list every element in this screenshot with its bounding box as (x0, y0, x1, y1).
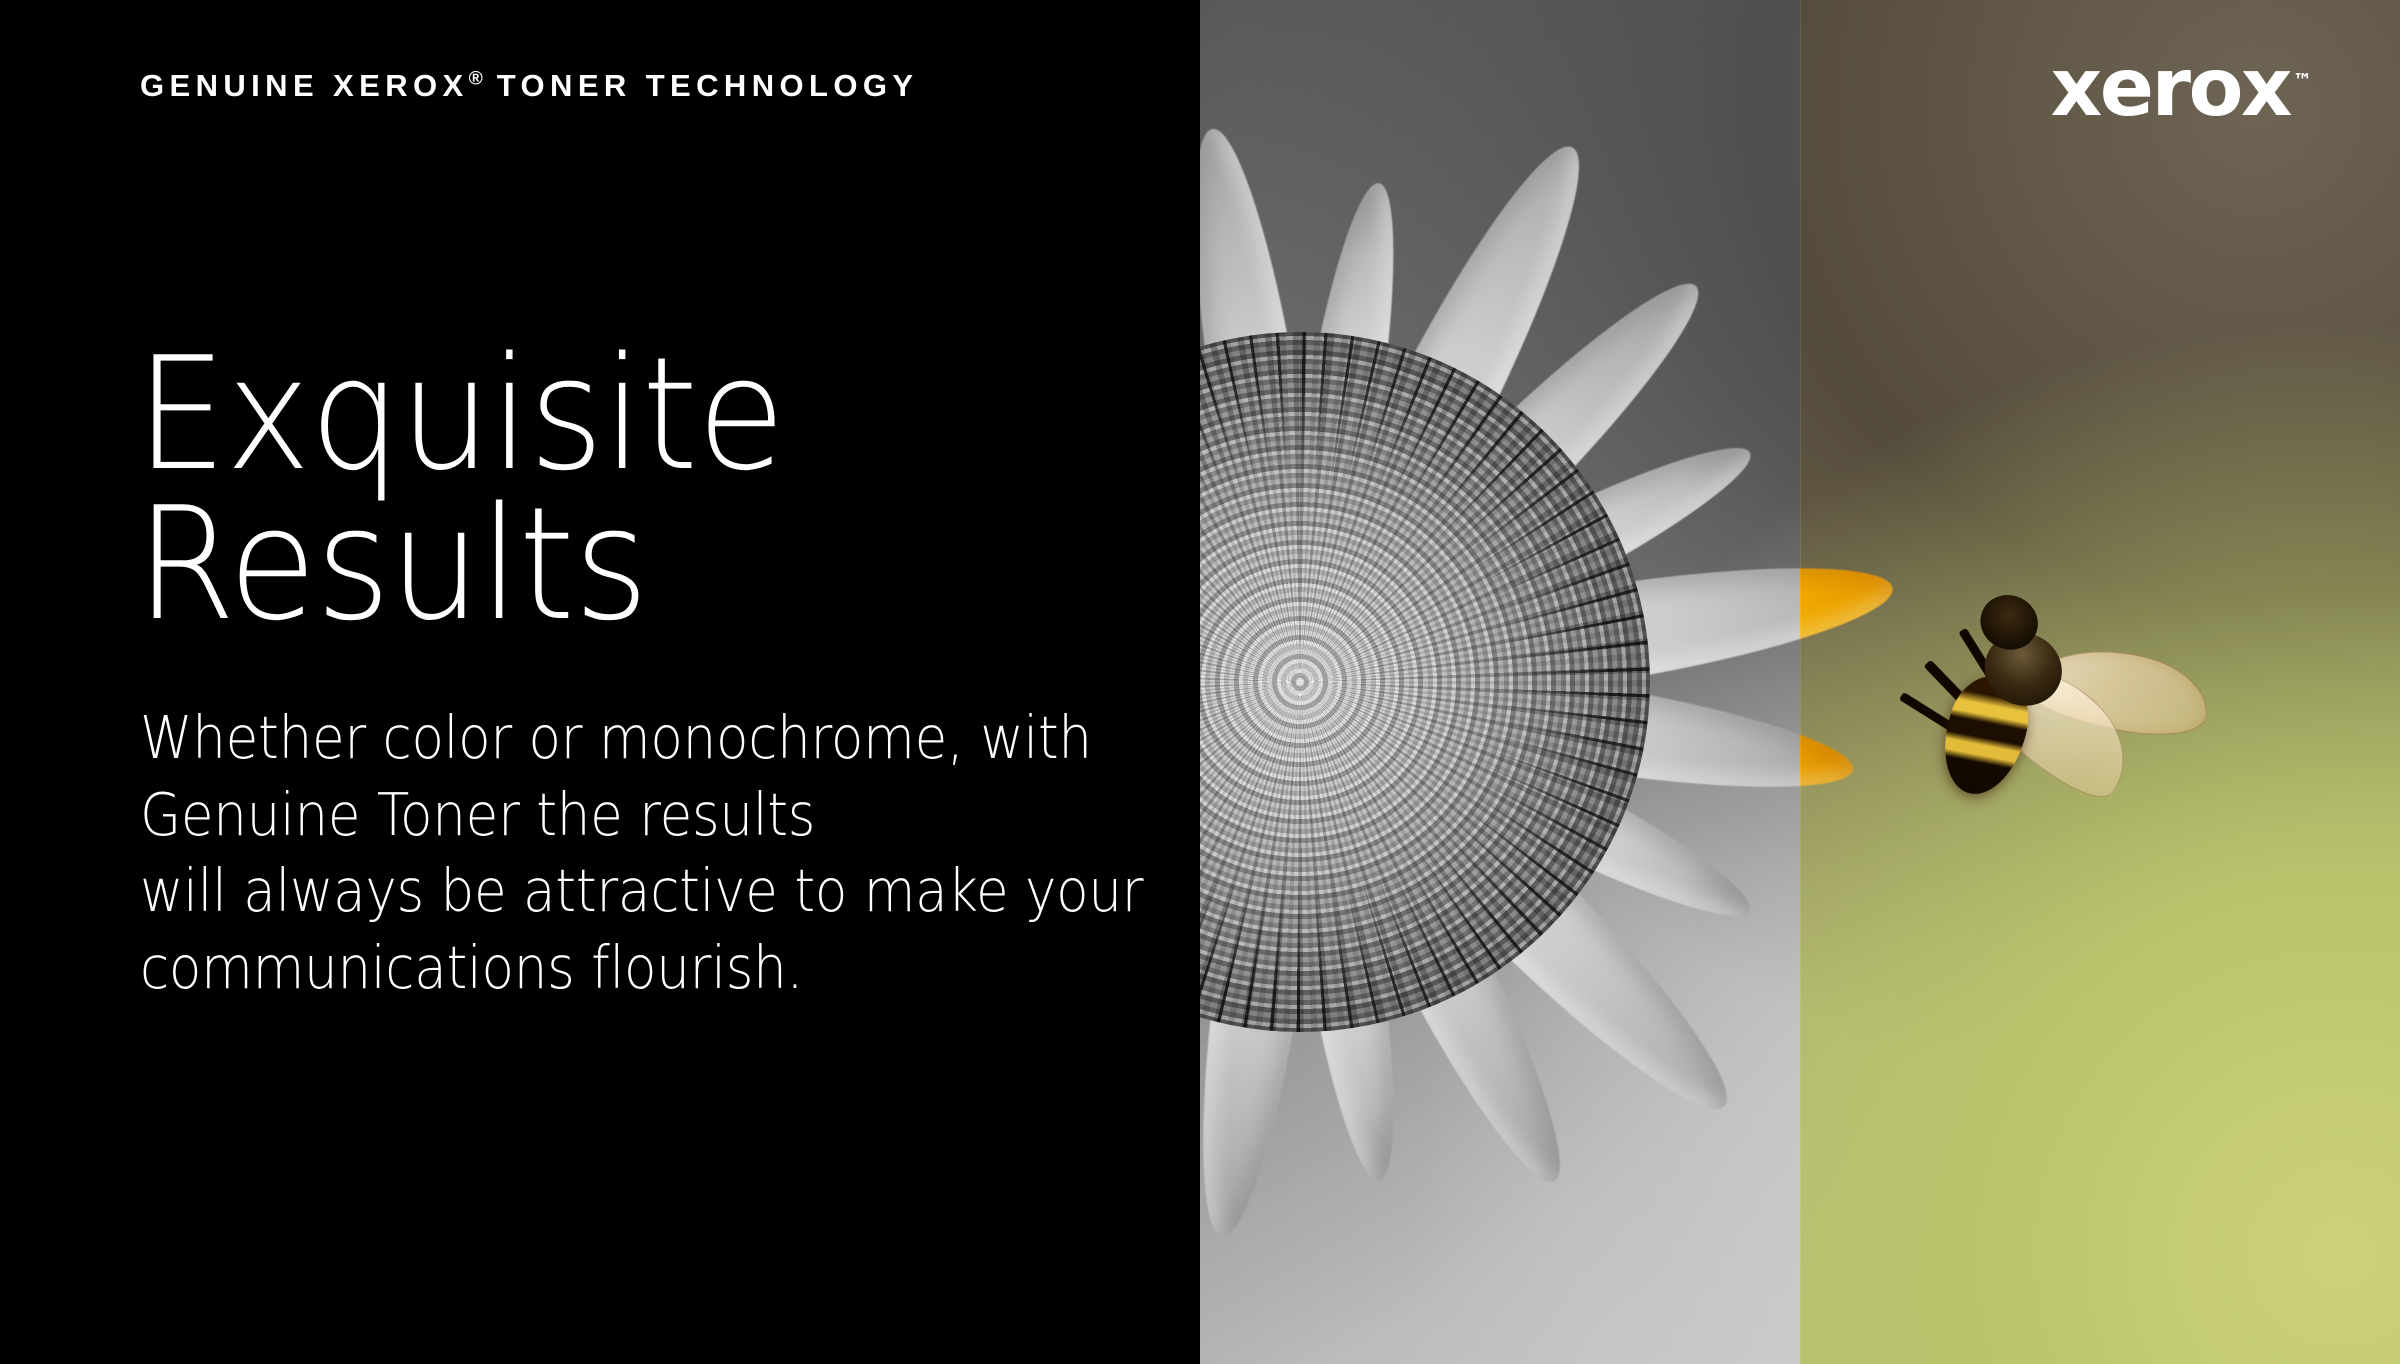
body-line-1: Whether color or monochrome, with (140, 700, 1143, 777)
page-title: Exquisite Results (136, 340, 841, 640)
xerox-logo-wordmark: xerox (2051, 41, 2290, 134)
body-copy: Whether color or monochrome, with Genuin… (140, 700, 1255, 1007)
sunflower-photo (1200, 0, 2400, 1364)
headline-line-2: Results (136, 490, 784, 640)
eyebrow-text-before: GENUINE XEROX (140, 68, 469, 103)
headline-line-1: Exquisite (136, 340, 784, 490)
registered-mark-icon: ® (469, 69, 483, 90)
body-line-3: will always be attractive to make your (140, 853, 1143, 930)
text-panel: GENUINE XEROX® TONER TECHNOLOGY Exquisit… (0, 0, 1200, 1364)
poster-canvas: xerox™ GENUINE XEROX® TONER TECHNOLOGY E… (0, 0, 2400, 1364)
body-line-2: Genuine Toner the results (140, 777, 1143, 854)
eyebrow-text-after: TONER TECHNOLOGY (483, 68, 919, 103)
grayscale-fallback (1200, 0, 1800, 1364)
mono-color-split-line (1800, 0, 1801, 1364)
body-line-4: communications flourish. (140, 930, 1143, 1007)
trademark-icon: ™ (2293, 70, 2312, 92)
xerox-logo[interactable]: xerox™ (2051, 48, 2312, 128)
eyebrow-kicker: GENUINE XEROX® TONER TECHNOLOGY (140, 68, 918, 104)
grayscale-half-overlay (1200, 0, 1800, 1364)
